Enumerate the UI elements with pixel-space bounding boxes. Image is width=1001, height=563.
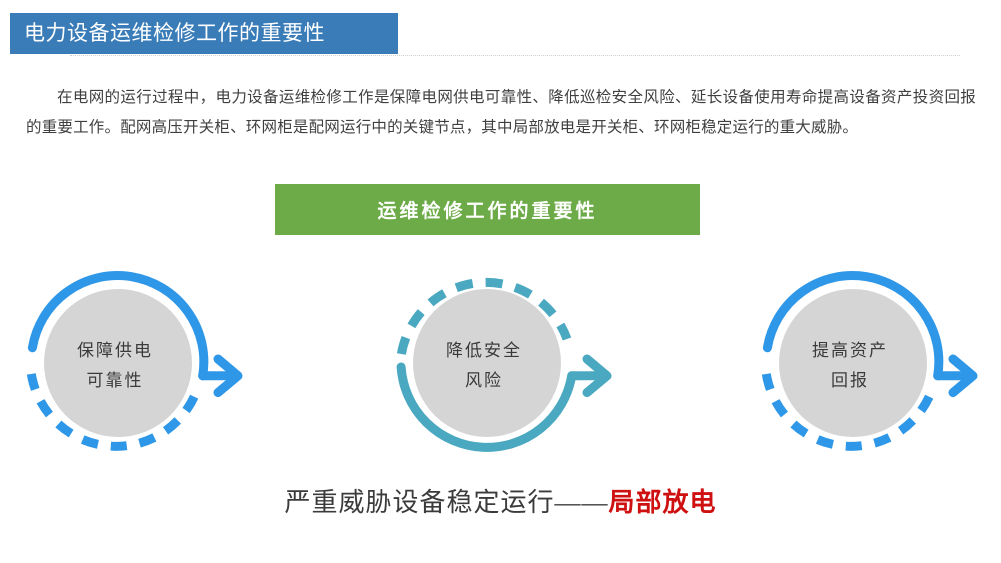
slide-canvas: 电力设备运维检修工作的重要性 在电网的运行过程中，电力设备运维检修工作是保障电网… <box>0 0 1001 563</box>
section-banner-label: 运维检修工作的重要性 <box>377 196 597 223</box>
circle-item-3: 提高资产 回报 <box>753 263 1001 468</box>
page-title: 电力设备运维检修工作的重要性 <box>24 23 325 44</box>
circle-1-graphic <box>18 263 268 468</box>
circle-diagram-row: 保障供电 可靠性 降低安全 风险 <box>0 263 1001 468</box>
circle-3-graphic <box>753 263 1001 468</box>
circle-2-fill <box>413 289 561 437</box>
circle-item-2: 降低安全 风险 <box>387 263 637 468</box>
caption-prefix: 严重威胁设备稳定运行—— <box>284 488 608 517</box>
circle-1-fill <box>44 289 192 437</box>
bottom-caption: 严重威胁设备稳定运行——局部放电 <box>0 482 1001 519</box>
title-divider <box>70 55 960 56</box>
circle-item-1: 保障供电 可靠性 <box>18 263 268 468</box>
body-paragraph: 在电网的运行过程中，电力设备运维检修工作是保障电网供电可靠性、降低巡检安全风险、… <box>26 83 976 143</box>
caption-highlight: 局部放电 <box>609 488 717 517</box>
circle-3-fill <box>779 289 927 437</box>
circle-2-graphic <box>387 263 637 468</box>
section-banner: 运维检修工作的重要性 <box>275 184 700 235</box>
slide-title-bar: 电力设备运维检修工作的重要性 <box>10 13 398 54</box>
